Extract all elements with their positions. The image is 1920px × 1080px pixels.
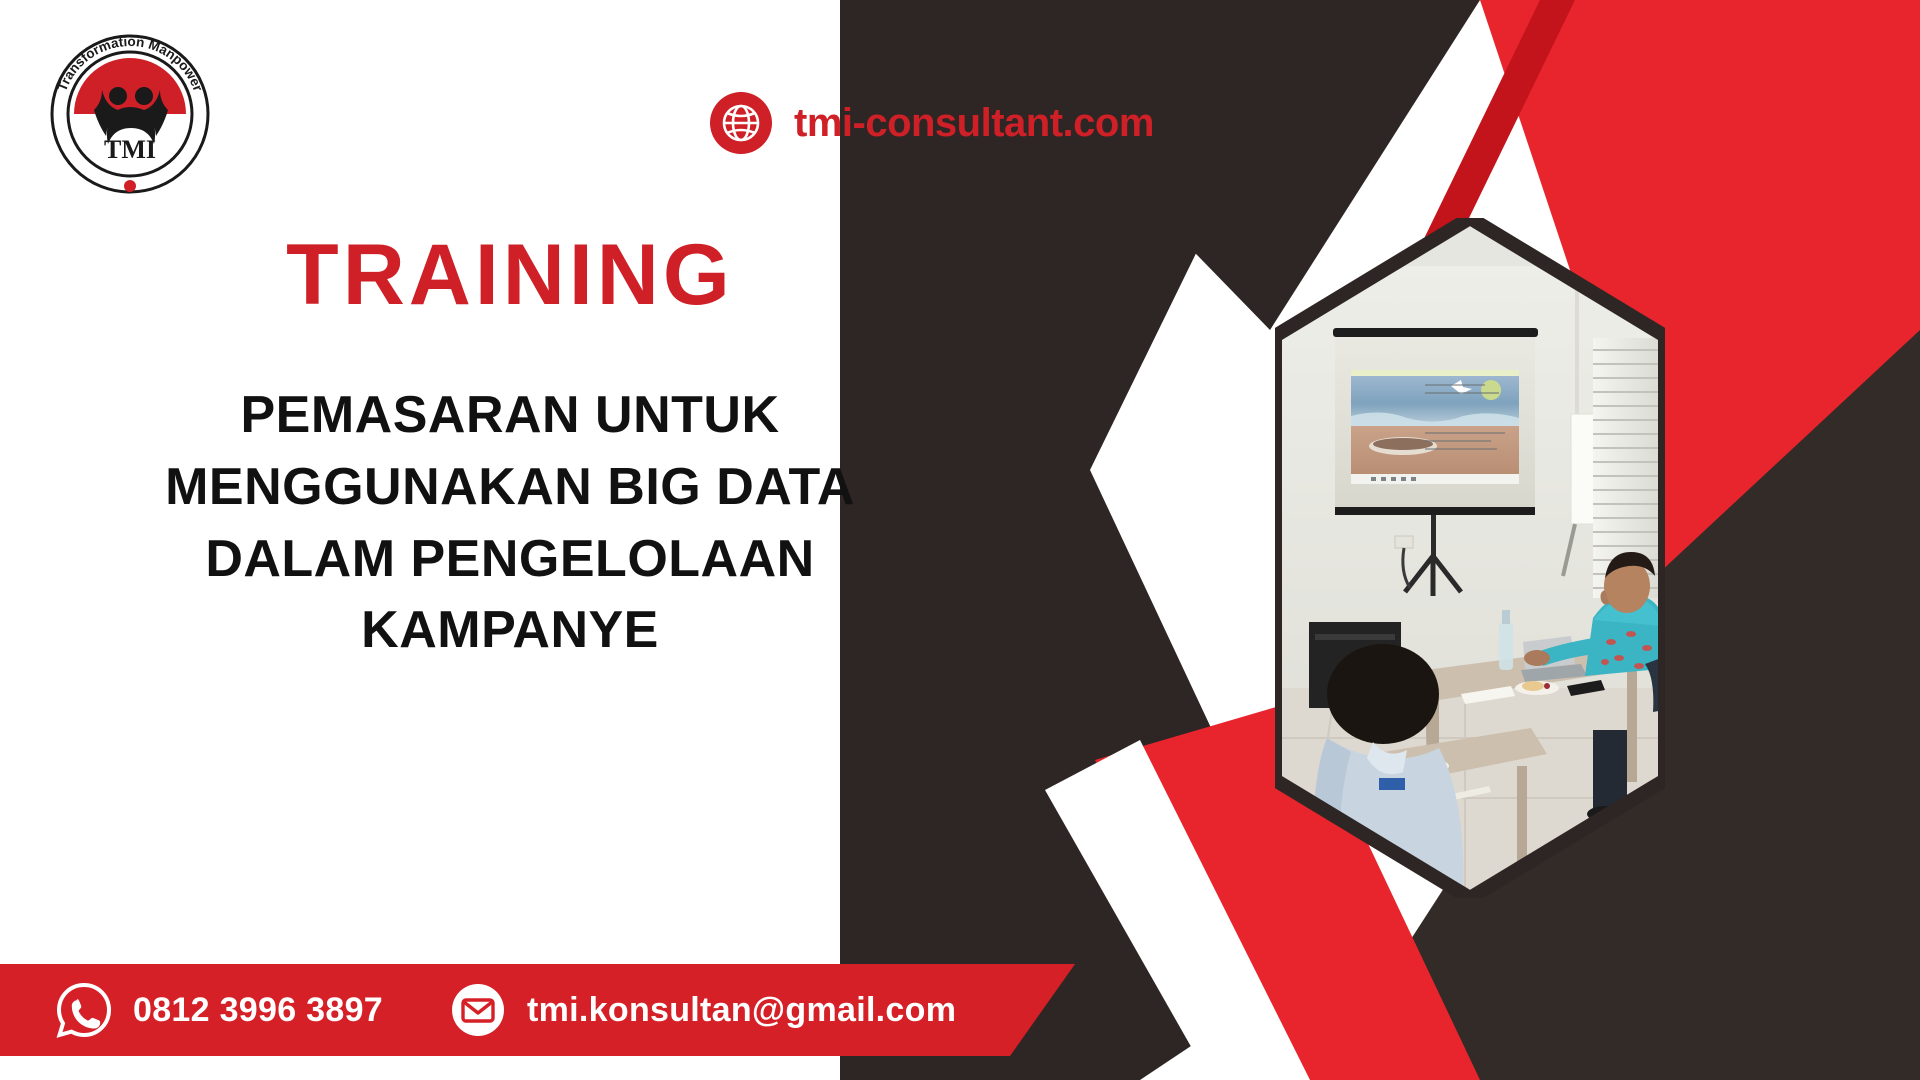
website-url[interactable]: tmi-consultant.com — [794, 101, 1154, 146]
course-title-line-3: DALAM PENGELOLAAN — [40, 524, 980, 596]
course-title-line-4: KAMPANYE — [40, 595, 980, 667]
website-row[interactable]: tmi-consultant.com — [710, 92, 1154, 154]
training-photo — [1275, 218, 1665, 898]
tmi-logo: TMI Transformation Manpower Indonesia — [40, 24, 220, 204]
course-title-line-2: MENGGUNAKAN BIG DATA — [40, 452, 980, 524]
eyebrow-training: TRAINING — [0, 232, 1020, 318]
phone-number[interactable]: 0812 3996 3897 — [133, 991, 383, 1030]
phone-contact[interactable]: 0812 3996 3897 — [55, 981, 383, 1039]
email-address[interactable]: tmi.konsultan@gmail.com — [527, 991, 956, 1030]
contact-footer-bar: 0812 3996 3897 tmi.konsultan@gmail.com — [0, 964, 1075, 1056]
course-title-line-1: PEMASARAN UNTUK — [40, 380, 980, 452]
course-title: PEMASARAN UNTUK MENGGUNAKAN BIG DATA DAL… — [40, 380, 980, 667]
svg-text:TMI: TMI — [104, 135, 156, 164]
globe-icon — [710, 92, 772, 154]
envelope-icon — [449, 981, 507, 1039]
poster-canvas: TMI Transformation Manpower Indonesia — [0, 0, 1920, 1080]
email-contact[interactable]: tmi.konsultan@gmail.com — [449, 981, 956, 1039]
whatsapp-icon — [55, 981, 113, 1039]
